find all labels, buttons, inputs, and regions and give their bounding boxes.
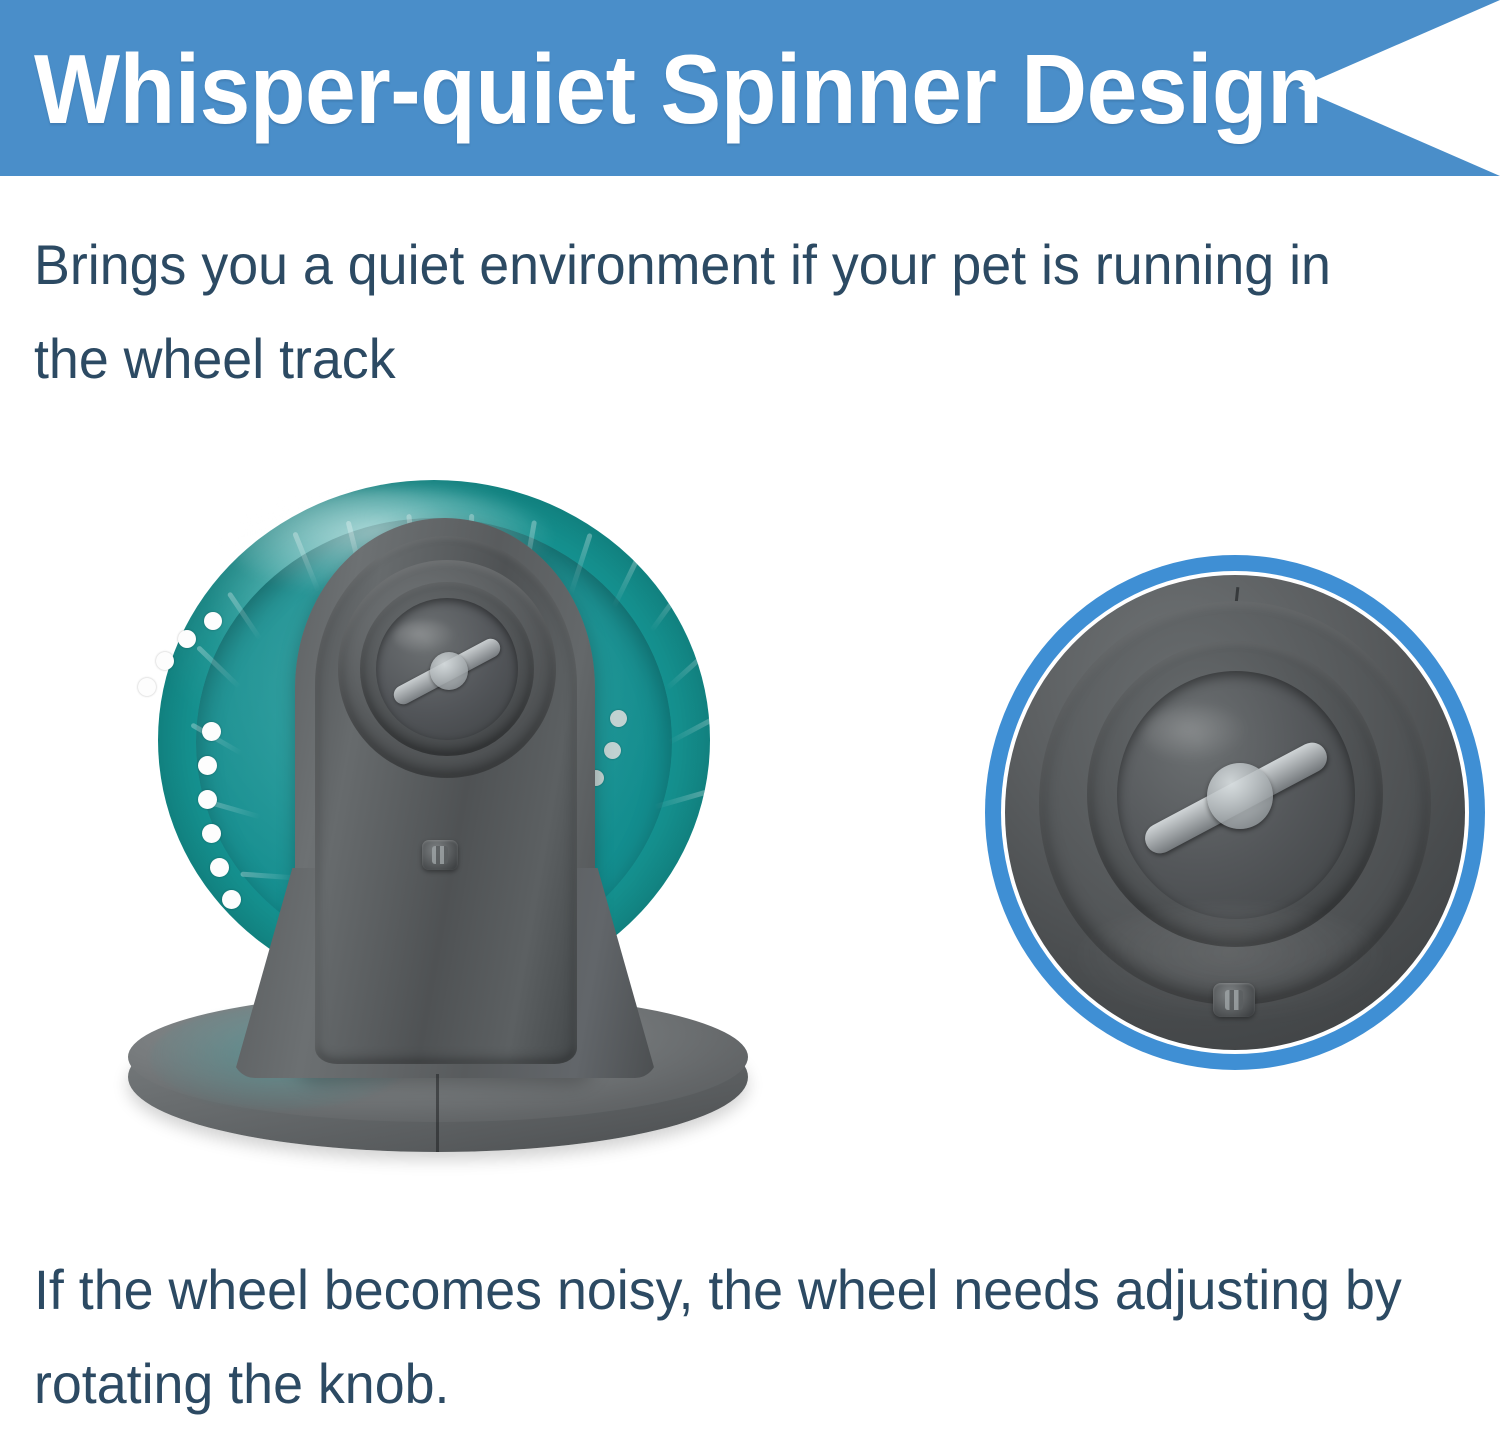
vent-hole — [204, 612, 222, 630]
vent-hole — [198, 790, 217, 809]
hub-screw-icon — [1213, 983, 1255, 1017]
bottom-caption-text: If the wheel becomes noisy, the wheel ne… — [34, 1243, 1426, 1431]
base-seam-line — [436, 1074, 439, 1152]
callout-photo — [1005, 575, 1465, 1050]
vent-hole — [138, 678, 156, 696]
knob-handle-hub-icon — [430, 652, 468, 690]
knob-specular-glint — [394, 620, 456, 654]
hub-specular-glint — [1143, 705, 1249, 763]
vent-hole — [156, 652, 174, 670]
neck-screw-icon — [422, 840, 458, 870]
vent-hole — [202, 824, 221, 843]
subtitle-text: Brings you a quiet environment if your p… — [34, 218, 1416, 406]
vent-hole — [202, 722, 221, 741]
vent-hole — [222, 890, 241, 909]
hub-knob-face — [1117, 671, 1355, 919]
ribbon-notch-shape — [1298, 0, 1500, 176]
page-title: Whisper-quiet Spinner Design — [34, 14, 1187, 164]
vent-hole — [610, 710, 627, 727]
knob-face — [376, 598, 518, 740]
vent-hole — [604, 742, 621, 759]
vent-hole — [178, 630, 196, 648]
product-photo-area — [0, 420, 1500, 1220]
silent-spinner-wheel-photo — [110, 440, 770, 1180]
adjusting-knob-hub-icon — [1207, 763, 1273, 829]
callout-inner-white-gap — [1001, 571, 1469, 1054]
vent-hole — [210, 858, 229, 877]
vent-hole — [198, 756, 217, 775]
knob-detail-callout — [985, 555, 1485, 1070]
header-banner: Whisper-quiet Spinner Design — [0, 0, 1500, 176]
